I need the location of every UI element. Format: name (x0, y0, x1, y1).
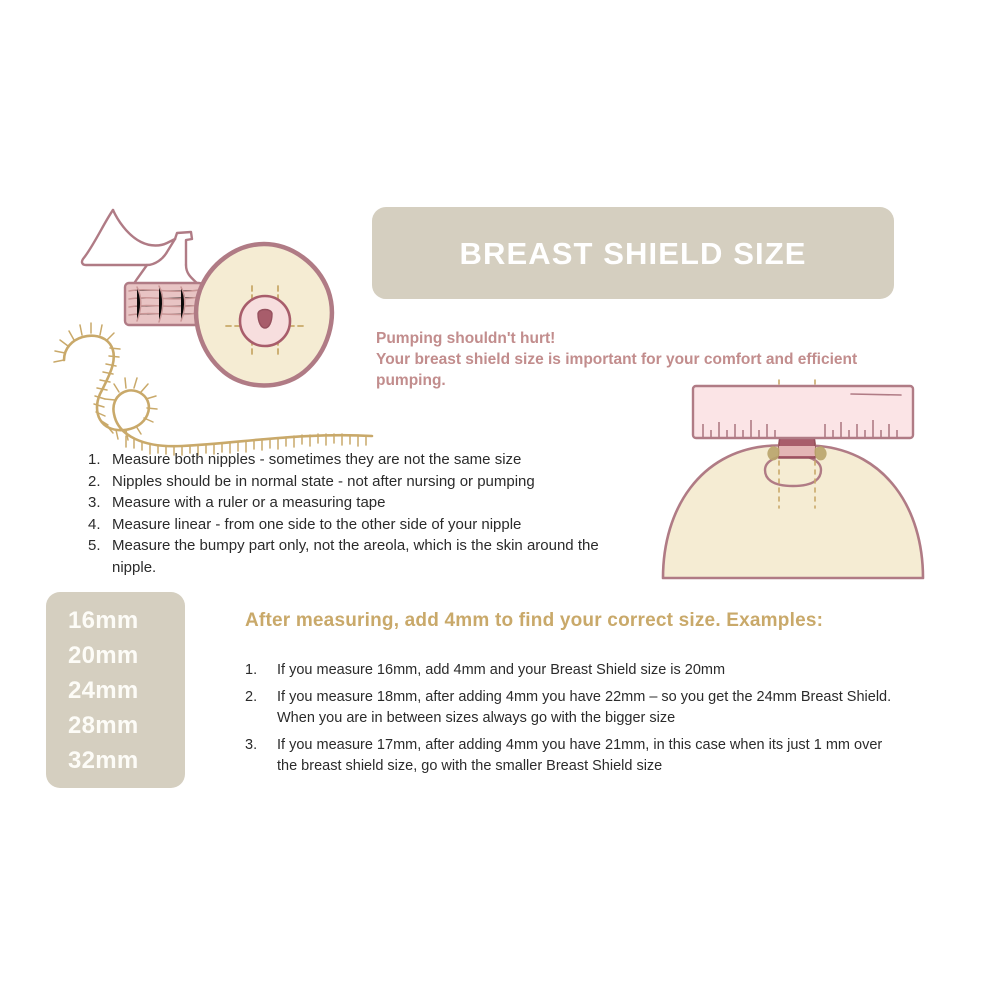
list-item-text: Measure the bumpy part only, not the are… (112, 535, 640, 578)
list-item-number: 3. (88, 492, 112, 514)
page-title: BREAST SHIELD SIZE (459, 238, 806, 269)
page-title-banner: BREAST SHIELD SIZE (372, 207, 894, 299)
shield-sizes-box: 16mm 20mm 24mm 28mm 32mm (46, 592, 185, 788)
examples-heading: After measuring, add 4mm to find your co… (245, 610, 905, 632)
intro-line-1: Pumping shouldn't hurt! (376, 328, 901, 349)
list-item-text: Measure linear - from one side to the ot… (112, 514, 640, 536)
size-option-16mm: 16mm (68, 603, 185, 638)
list-item-text: If you measure 16mm, add 4mm and your Br… (277, 660, 905, 682)
list-item-number: 1. (245, 660, 277, 682)
intro-line-3: pumping. (376, 370, 901, 391)
list-item: 5. Measure the bumpy part only, not the … (88, 535, 640, 578)
list-item: 1. If you measure 16mm, add 4mm and your… (245, 660, 905, 682)
list-item-text: If you measure 18mm, after adding 4mm yo… (277, 687, 905, 730)
list-item-text: If you measure 17mm, after adding 4mm yo… (277, 735, 905, 778)
intro-line-2: Your breast shield size is important for… (376, 349, 901, 370)
list-item-text: Nipples should be in normal state - not … (112, 471, 640, 493)
size-option-28mm: 28mm (68, 708, 185, 743)
size-option-24mm: 24mm (68, 673, 185, 708)
list-item: 3. If you measure 17mm, after adding 4mm… (245, 735, 905, 778)
list-item-text: Measure both nipples - sometimes they ar… (112, 449, 640, 471)
list-item: 3. Measure with a ruler or a measuring t… (88, 492, 640, 514)
list-item-number: 3. (245, 735, 277, 757)
list-item: 2. Nipples should be in normal state - n… (88, 471, 640, 493)
examples-list: 1. If you measure 16mm, add 4mm and your… (245, 660, 905, 783)
size-option-32mm: 32mm (68, 743, 185, 778)
list-item-number: 5. (88, 535, 112, 557)
list-item: 1. Measure both nipples - sometimes they… (88, 449, 640, 471)
list-item: 2. If you measure 18mm, after adding 4mm… (245, 687, 905, 730)
measuring-tape-icon (52, 320, 382, 455)
list-item: 4. Measure linear - from one side to the… (88, 514, 640, 536)
list-item-number: 2. (245, 687, 277, 709)
size-option-20mm: 20mm (68, 638, 185, 673)
breast-side-view-with-ruler-icon (655, 380, 940, 580)
infographic-canvas: BREAST SHIELD SIZE Pumping shouldn't hur… (0, 0, 1000, 1000)
list-item-number: 4. (88, 514, 112, 536)
list-item-text: Measure with a ruler or a measuring tape (112, 492, 640, 514)
measurement-steps-list: 1. Measure both nipples - sometimes they… (88, 449, 640, 578)
list-item-number: 2. (88, 471, 112, 493)
list-item-number: 1. (88, 449, 112, 471)
intro-text: Pumping shouldn't hurt! Your breast shie… (376, 328, 901, 391)
